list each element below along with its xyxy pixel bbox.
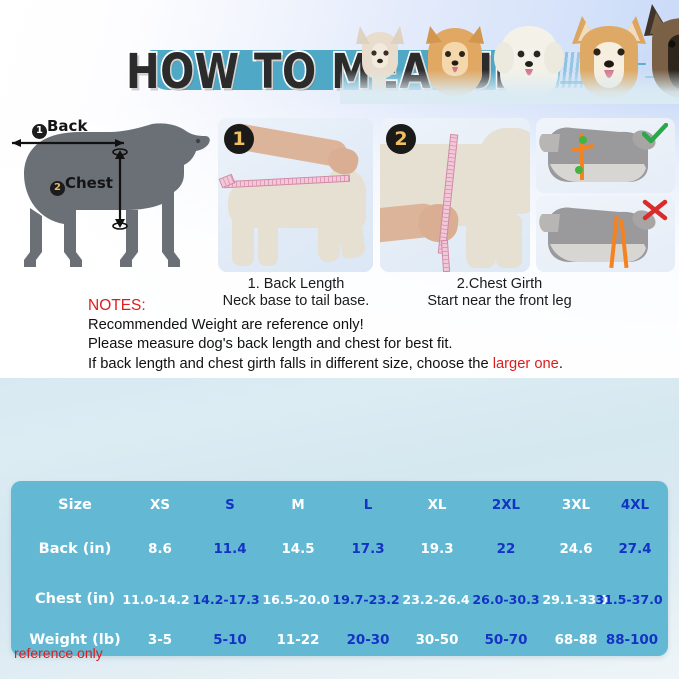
- cell-weight-xs: 3-5: [121, 624, 199, 657]
- table-row-chest: Chest (in) 11.0-14.2 14.2-17.3 16.5-20.0…: [11, 583, 668, 616]
- cell-weight-xl: 30-50: [398, 624, 476, 657]
- caption-back-title: 1. Back Length: [210, 276, 382, 293]
- cell-weight-2xl: 50-70: [467, 624, 545, 657]
- photo-chest-girth: 2: [380, 118, 530, 272]
- back-measure-label: 1Back: [32, 117, 87, 139]
- cell-back-4xl: 27.4: [596, 533, 674, 566]
- cell-chest-l: 19.7-23.2: [327, 583, 405, 616]
- chest-measure-label: 2Chest: [50, 174, 113, 196]
- check-icon: [642, 123, 668, 145]
- cell-weight-s: 5-10: [191, 624, 269, 657]
- cell-size-xs: XS: [121, 489, 199, 522]
- notes-line-3-highlight: larger one: [493, 356, 559, 372]
- cell-back-s: 11.4: [191, 533, 269, 566]
- cell-size-s: S: [191, 489, 269, 522]
- notes-block: NOTES: Recommended Weight are reference …: [88, 296, 668, 374]
- cell-size-2xl: 2XL: [467, 489, 545, 522]
- notes-title: NOTES:: [88, 296, 668, 316]
- chest-label-text: Chest: [65, 174, 113, 192]
- notes-line-1: Recommended Weight are reference only!: [88, 316, 668, 336]
- back-label-text: Back: [47, 117, 87, 135]
- measurement-diagram: 1Back 2Chest: [2, 112, 214, 270]
- cell-size-l: L: [329, 489, 407, 522]
- cell-size-4xl: 4XL: [596, 489, 674, 522]
- cell-size-xl: XL: [398, 489, 476, 522]
- photo-correct-fit: [536, 118, 675, 193]
- cell-chest-xs: 11.0-14.2: [117, 583, 195, 616]
- cell-weight-l: 20-30: [329, 624, 407, 657]
- cell-chest-4xl: 31.5-37.0: [590, 583, 668, 616]
- step-badge-photo-1: 1: [224, 124, 254, 154]
- cell-back-xs: 8.6: [121, 533, 199, 566]
- dog-row-fade: [340, 70, 679, 104]
- step-badge-1: 1: [32, 124, 47, 139]
- table-row-size: Size XS S M L XL 2XL 3XL 4XL: [11, 489, 668, 522]
- notes-line-3-post: .: [559, 356, 563, 372]
- cell-weight-m: 11-22: [259, 624, 337, 657]
- reference-only-note: reference only: [14, 645, 103, 661]
- cell-chest-m: 16.5-20.0: [257, 583, 335, 616]
- notes-line-3-pre: If back length and chest girth falls in …: [88, 356, 493, 372]
- table-row-weight: Weight (lb) 3-5 5-10 11-22 20-30 30-50 5…: [11, 624, 668, 657]
- cell-chest-xl: 23.2-26.4: [397, 583, 475, 616]
- row-label-size: Size: [11, 489, 139, 522]
- cell-size-m: M: [259, 489, 337, 522]
- cell-chest-s: 14.2-17.3: [187, 583, 265, 616]
- cell-back-2xl: 22: [467, 533, 545, 566]
- step-badge-2: 2: [50, 181, 65, 196]
- cell-back-m: 14.5: [259, 533, 337, 566]
- cell-weight-4xl: 88-100: [593, 624, 671, 657]
- cross-icon: [642, 199, 668, 221]
- row-label-back: Back (in): [11, 533, 139, 566]
- notes-line-3: If back length and chest girth falls in …: [88, 355, 668, 375]
- cell-back-l: 17.3: [329, 533, 407, 566]
- size-chart-table: Size XS S M L XL 2XL 3XL 4XL Back (in) 8…: [11, 481, 668, 656]
- size-chart-page: HOW TO MEASURE 1Back 2Chest: [0, 0, 679, 679]
- caption-chest-title: 2.Chest Girth: [392, 276, 607, 293]
- photo-incorrect-fit: [536, 196, 675, 272]
- step-badge-photo-2: 2: [386, 124, 416, 154]
- table-row-back: Back (in) 8.6 11.4 14.5 17.3 19.3 22 24.…: [11, 533, 668, 566]
- notes-line-2: Please measure dog's back length and che…: [88, 335, 668, 355]
- cell-chest-2xl: 26.0-30.3: [467, 583, 545, 616]
- photo-back-length: 1: [218, 118, 373, 272]
- cell-back-xl: 19.3: [398, 533, 476, 566]
